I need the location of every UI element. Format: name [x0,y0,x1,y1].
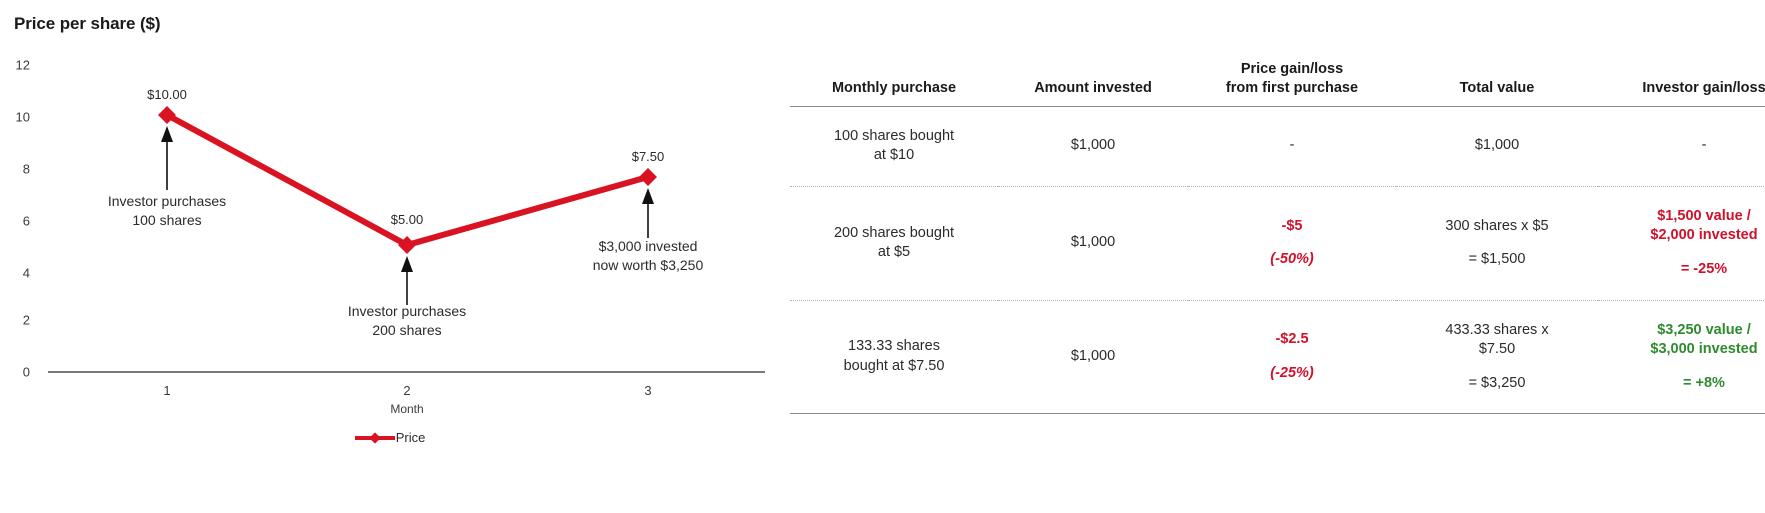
cell-price-gain-loss-pct: (-25%) [1196,364,1388,384]
annotation-month-2: Investor purchases 200 shares [348,302,466,340]
y-tick-0: 0 [0,365,30,380]
column-header-price-gain-loss-line2: from first purchase [1194,79,1390,98]
column-header-amount-invested-line1: Amount invested [1004,79,1182,98]
cell-amount-invested: $1,000 [998,106,1188,186]
legend-label-price: Price [396,430,426,445]
annotation-arrow-head-3 [642,188,654,204]
cell-investor-gain-loss-line3: = +8% [1606,374,1765,394]
column-header-price-gain-loss: Price gain/loss from first purchase [1188,60,1396,106]
chart-title: Price per share ($) [14,14,160,34]
cell-monthly-purchase: 200 shares bought at $5 [790,186,998,300]
annotation-month-3-line2: now worth $3,250 [593,256,704,275]
column-header-price-gain-loss-line1: Price gain/loss [1194,60,1390,79]
cell-price-gain-loss-main: - [1196,136,1388,156]
x-tick-3: 3 [644,383,651,398]
cell-price-gain-loss-main: -$5 [1196,217,1388,237]
cell-amount-invested: $1,000 [998,300,1188,414]
column-header-total-value: Total value [1396,60,1598,106]
table-row: 200 shares bought at $5 $1,000 -$5 (-50%… [790,186,1765,300]
y-tick-8: 8 [0,162,30,177]
point-label-month-1: $10.00 [147,87,187,102]
column-header-amount-invested: Amount invested [998,60,1188,106]
cell-investor-gain-loss-line3: = -25% [1606,260,1765,280]
x-tick-2: 2 [403,383,410,398]
table-header: Monthly purchase Amount invested Price g… [790,60,1765,106]
x-axis-line [48,371,765,373]
y-tick-6: 6 [0,214,30,229]
column-header-total-value-line1: Total value [1402,79,1592,98]
y-tick-12: 12 [0,58,30,73]
annotation-month-3: $3,000 invested now worth $3,250 [593,237,704,275]
annotation-month-1: Investor purchases 100 shares [108,192,226,230]
cell-amount-invested: $1,000 [998,186,1188,300]
cell-investor-gain-loss-line1: $3,250 value / [1606,321,1765,341]
cell-total-value: $1,000 [1396,106,1598,186]
investment-table: Monthly purchase Amount invested Price g… [790,60,1765,414]
cell-price-gain-loss-pct: (-50%) [1196,250,1388,270]
cell-total-value-line1: 300 shares x $5 [1404,217,1590,237]
cell-investor-gain-loss: $1,500 value / $2,000 invested = -25% [1598,186,1765,300]
cell-monthly-purchase: 100 shares bought at $10 [790,106,998,186]
table-row: 133.33 shares bought at $7.50 $1,000 -$2… [790,300,1765,414]
investment-table-panel: Monthly purchase Amount invested Price g… [790,60,1750,414]
table-body: 100 shares bought at $10 $1,000 - $1,000… [790,106,1765,414]
cell-monthly-purchase-line1: 200 shares bought [798,224,990,244]
cell-investor-gain-loss-line2: $3,000 invested [1606,340,1765,360]
table-row: 100 shares bought at $10 $1,000 - $1,000… [790,106,1765,186]
cell-investor-gain-loss: $3,250 value / $3,000 invested = +8% [1598,300,1765,414]
y-tick-2: 2 [0,313,30,328]
marker-month-3 [639,168,657,186]
column-header-monthly-purchase-line1: Monthly purchase [796,79,992,98]
cell-monthly-purchase-line2: at $10 [798,146,990,166]
cell-price-gain-loss: - [1188,106,1396,186]
cell-investor-gain-loss-line1: $1,500 value / [1606,207,1765,227]
y-tick-4: 4 [0,266,30,281]
marker-month-1 [158,106,176,124]
cell-price-gain-loss-main: -$2.5 [1196,330,1388,350]
cell-total-value-line2: = $1,500 [1404,250,1590,270]
cell-monthly-purchase-line1: 133.33 shares [798,337,990,357]
cell-total-value-line3: = $3,250 [1404,374,1590,394]
point-label-month-2: $5.00 [391,212,424,227]
annotation-arrow-head-2 [401,256,413,272]
annotation-month-3-line1: $3,000 invested [593,237,704,256]
cell-monthly-purchase-line1: 100 shares bought [798,127,990,147]
cell-price-gain-loss: -$5 (-50%) [1188,186,1396,300]
cell-total-value: 300 shares x $5 = $1,500 [1396,186,1598,300]
cell-total-value-line1: $1,000 [1404,136,1590,156]
table-header-row: Monthly purchase Amount invested Price g… [790,60,1765,106]
cell-monthly-purchase: 133.33 shares bought at $7.50 [790,300,998,414]
cell-total-value-line2: $7.50 [1404,340,1590,360]
column-header-monthly-purchase: Monthly purchase [790,60,998,106]
chart-legend[interactable]: Price [0,430,780,445]
cell-investor-gain-loss-line2: $2,000 invested [1606,226,1765,246]
x-axis-title: Month [390,402,423,416]
annotation-month-1-line1: Investor purchases [108,192,226,211]
cell-total-value-line1: 433.33 shares x [1404,321,1590,341]
cell-monthly-purchase-line2: at $5 [798,243,990,263]
cell-investor-gain-loss: - [1598,106,1765,186]
annotation-arrow-head-1 [161,126,173,142]
cell-price-gain-loss: -$2.5 (-25%) [1188,300,1396,414]
point-label-month-3: $7.50 [632,149,665,164]
cell-total-value: 433.33 shares x $7.50 = $3,250 [1396,300,1598,414]
marker-month-2 [398,236,416,254]
annotation-month-1-line2: 100 shares [108,211,226,230]
cell-monthly-purchase-line2: bought at $7.50 [798,357,990,377]
y-tick-10: 10 [0,110,30,125]
chart-and-table-figure: Price per share ($) 12 10 8 6 4 2 0 1 2 … [0,0,1765,513]
column-header-investor-gain-loss-line1: Investor gain/loss [1604,79,1765,98]
cell-investor-gain-loss-line1: - [1606,136,1765,156]
chart-panel: Price per share ($) 12 10 8 6 4 2 0 1 2 … [0,0,780,513]
annotation-month-2-line1: Investor purchases [348,302,466,321]
column-header-investor-gain-loss: Investor gain/loss [1598,60,1765,106]
annotation-month-2-line2: 200 shares [348,321,466,340]
legend-line-marker-icon [355,432,395,444]
x-tick-1: 1 [163,383,170,398]
